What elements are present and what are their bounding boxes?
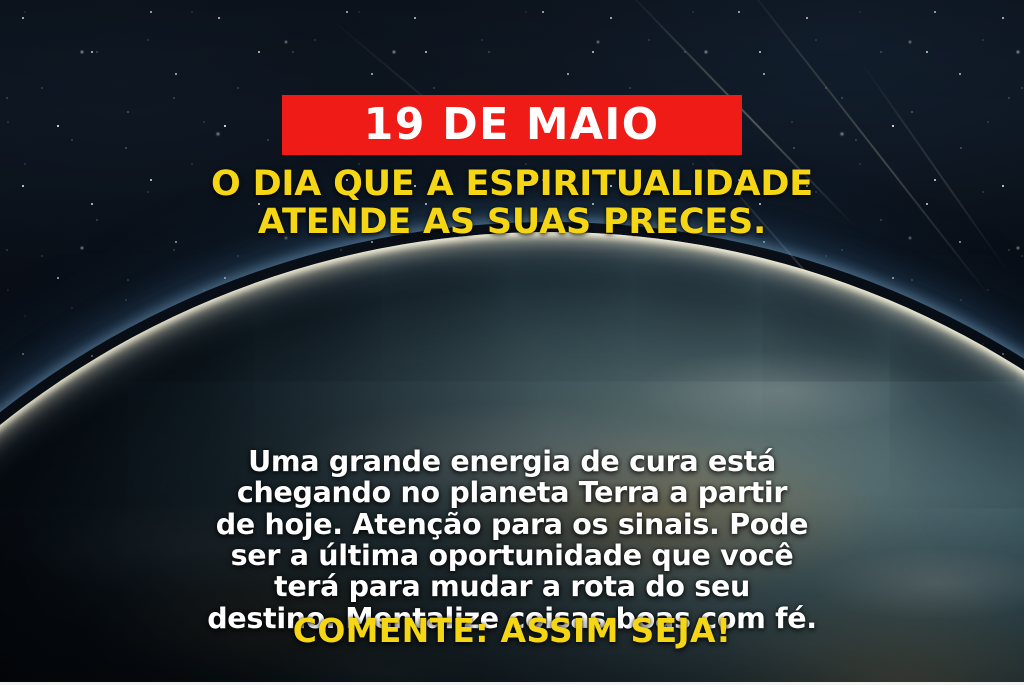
headline-line-1: O DIA QUE A ESPIRITUALIDADE — [24, 166, 1000, 204]
body-copy-line-5: terá para mudar a rota do seu — [16, 571, 1008, 602]
body-copy-line-4: ser a última oportunidade que você — [16, 540, 1008, 571]
body-copy-line-1: Uma grande energia de cura está — [16, 446, 1008, 477]
body-copy-line-2: chegando no planeta Terra a partir — [16, 477, 1008, 508]
headline: O DIA QUE A ESPIRITUALIDADE ATENDE AS SU… — [0, 166, 1024, 242]
headline-line-2: ATENDE AS SUAS PRECES. — [24, 204, 1000, 242]
poster-canvas: 19 DE MAIO O DIA QUE A ESPIRITUALIDADE A… — [0, 0, 1024, 685]
body-copy-line-3: de hoje. Atenção para os sinais. Pode — [16, 509, 1008, 540]
date-banner-label: 19 DE MAIO — [364, 103, 660, 147]
body-copy: Uma grande energia de cura está chegando… — [0, 446, 1024, 634]
call-to-action-text: COMENTE: ASSIM SEJA! — [0, 613, 1024, 649]
poster-content: 19 DE MAIO O DIA QUE A ESPIRITUALIDADE A… — [0, 0, 1024, 685]
date-banner: 19 DE MAIO — [282, 95, 742, 155]
